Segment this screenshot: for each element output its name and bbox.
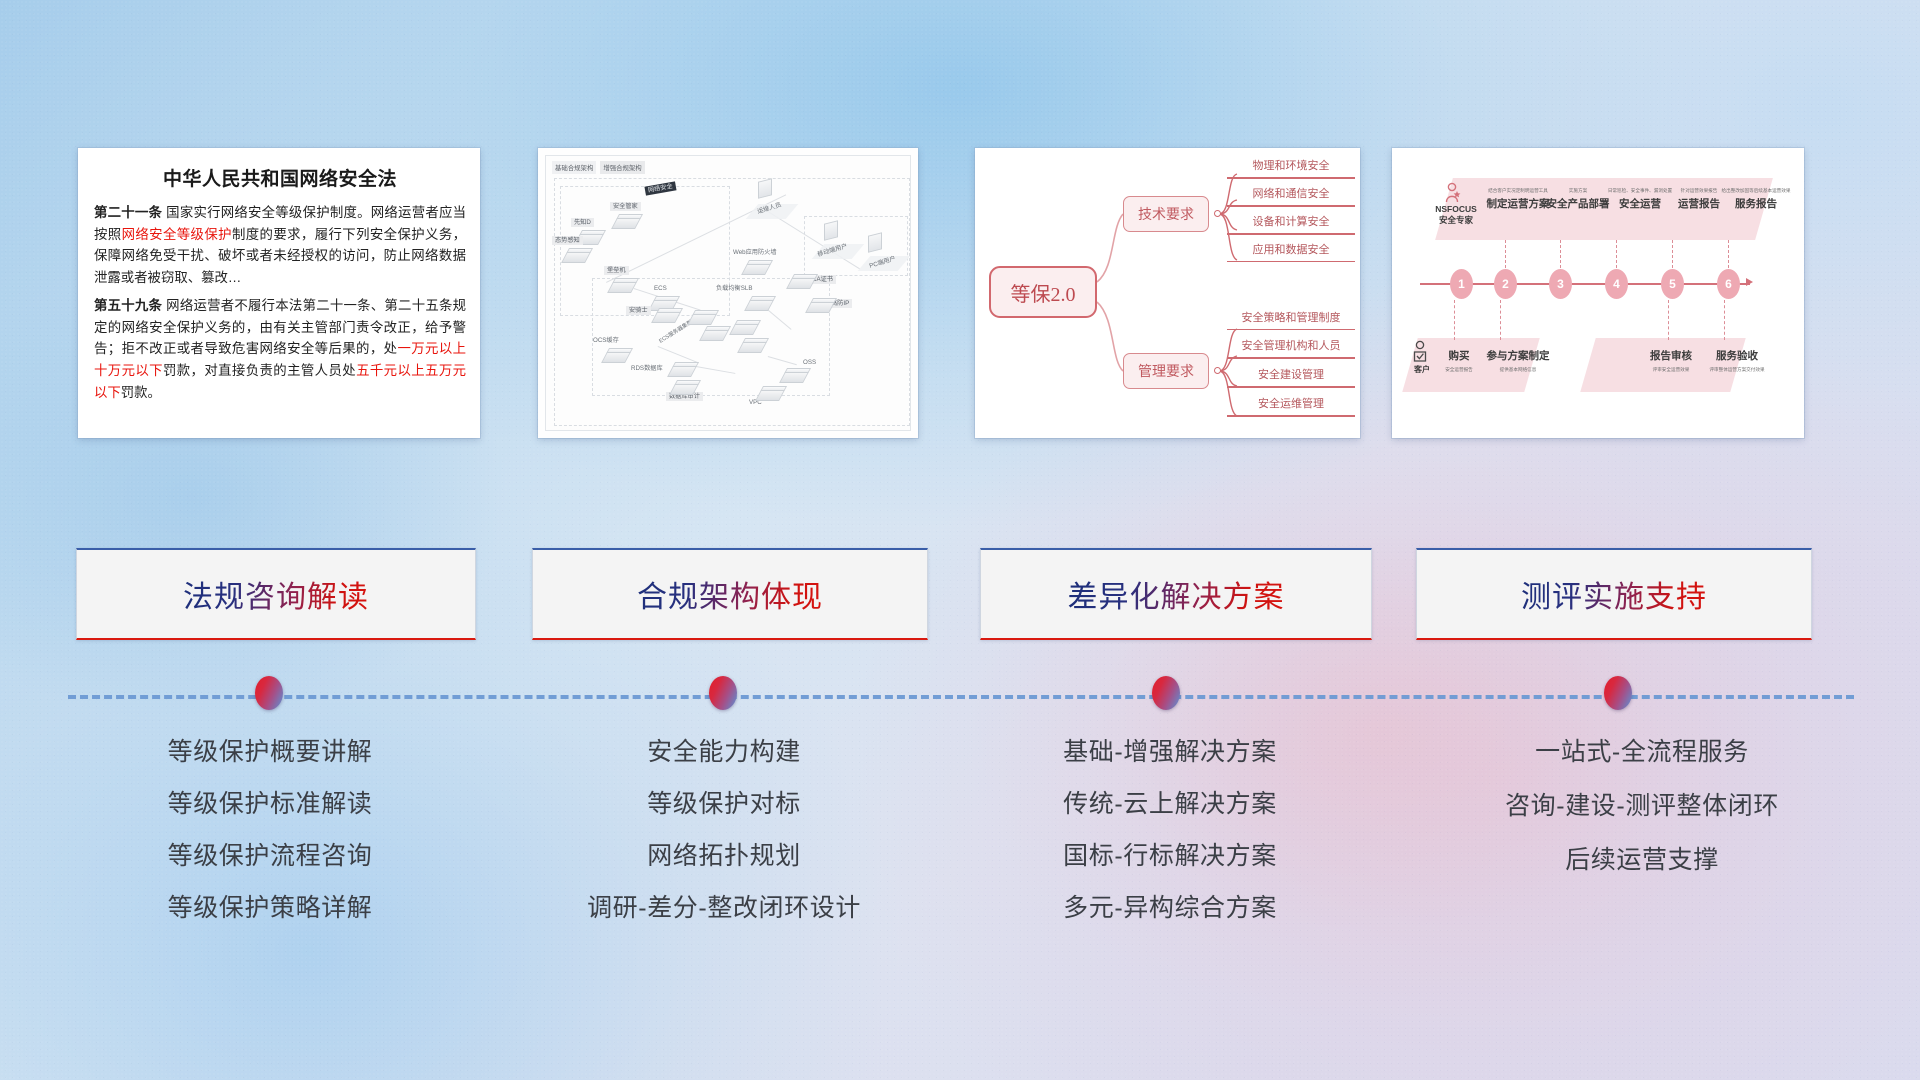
step-caption: 评审安全运营效果	[1640, 367, 1702, 373]
list-item: 安全能力构建	[494, 740, 954, 765]
timeline-node-2[interactable]	[709, 676, 737, 710]
list-item: 等级保护标准解读	[40, 792, 500, 817]
leader-c2	[1500, 300, 1501, 340]
node-label: 堡垒机	[604, 266, 629, 275]
section-title-box-3[interactable]: 差异化解决方案	[980, 548, 1372, 640]
cube-icon	[614, 214, 640, 232]
list-item: 等级保护对标	[494, 792, 954, 817]
expert-step-6: 给出整改加固等后续基本运营效果 服务报告	[1712, 188, 1800, 211]
leader-2	[1505, 240, 1506, 268]
step-caption: 评审整体运营方案交付效果	[1698, 367, 1776, 373]
cube-icon	[670, 362, 696, 380]
step-caption: 给出整改加固等后续基本运营效果	[1712, 188, 1800, 194]
node-label: ECS	[651, 284, 670, 293]
leader-6	[1728, 240, 1729, 268]
step-number-6: 6	[1717, 269, 1740, 299]
section-title-label: 合规架构体现	[637, 572, 823, 616]
mind-map-root: 等保2.0	[989, 266, 1097, 318]
list-item: 基础-增强解决方案	[940, 740, 1400, 765]
step-title: 购买	[1436, 348, 1482, 363]
timeline-node-3[interactable]	[1152, 676, 1180, 710]
list-item: 后续运营支撑	[1392, 848, 1892, 873]
step-title: 参与方案制定	[1480, 348, 1556, 363]
section-title-box-1[interactable]: 法规咨询解读	[76, 548, 476, 640]
cube-icon	[732, 320, 758, 338]
expert-actor-label: NSFOCUS 安全专家	[1426, 204, 1486, 225]
expert-brand: NSFOCUS	[1426, 204, 1486, 215]
section-items-2: 安全能力构建 等级保护对标 网络拓扑规划 调研-差分-整改闭环设计	[494, 740, 954, 948]
step-caption: 提供基本网络信息	[1480, 367, 1556, 373]
step-caption: 安全运营报告	[1436, 367, 1482, 373]
section-title-label: 测评实施支持	[1521, 572, 1707, 616]
law-title: 中华人民共和国网络安全法	[94, 164, 466, 191]
leader-5	[1672, 240, 1673, 268]
law-text-card[interactable]: 中华人民共和国网络安全法 第二十一条 国家实行网络安全等级保护制度。网络运营者应…	[78, 148, 480, 438]
list-item: 咨询-建设-测评整体闭环	[1392, 794, 1892, 819]
architecture-tab-group[interactable]: 基础合规架构 增强合规架构	[552, 161, 645, 174]
step-title: 报告审核	[1640, 348, 1702, 363]
law-run-highlight: 网络安全等级保护	[122, 227, 232, 242]
cube-icon	[789, 274, 815, 292]
mind-map-branch-management: 管理要求	[1123, 353, 1209, 389]
monitor-icon	[868, 234, 885, 256]
cube-icon	[740, 338, 766, 356]
step-number-5: 5	[1661, 269, 1684, 299]
section-title-row: 法规咨询解读 合规架构体现 差异化解决方案 测评实施支持	[0, 548, 1920, 644]
nsfocus-timeline-card[interactable]: NSFOCUS 安全专家 结合客户实况定制明运营工具 制定运营方案 实施方案 安…	[1392, 148, 1804, 438]
cube-icon	[808, 298, 834, 316]
law-text-body: 中华人民共和国网络安全法 第二十一条 国家实行网络安全等级保护制度。网络运营者应…	[78, 148, 480, 438]
cube-icon	[744, 260, 770, 278]
law-run: 罚款，对直接负责的主管人员处	[163, 363, 356, 378]
mind-map-leaf: 设备和计算安全	[1227, 216, 1355, 235]
person-check-icon	[1412, 340, 1430, 364]
step-title: 服务报告	[1712, 196, 1800, 211]
preview-card-row: 中华人民共和国网络安全法 第二十一条 国家实行网络安全等级保护制度。网络运营者应…	[0, 148, 1920, 444]
section-items-1: 等级保护概要讲解 等级保护标准解读 等级保护流程咨询 等级保护策略详解	[40, 740, 500, 948]
section-title-label: 差异化解决方案	[1068, 572, 1285, 616]
list-item: 传统-云上解决方案	[940, 792, 1400, 817]
mind-map-leaf: 安全运维管理	[1227, 398, 1355, 417]
node-label: OCS缓存	[590, 336, 622, 345]
leader-c1	[1454, 300, 1455, 340]
tab-basic-compliance[interactable]: 基础合规架构	[552, 161, 596, 174]
section-items-3: 基础-增强解决方案 传统-云上解决方案 国标-行标解决方案 多元-异构综合方案	[940, 740, 1400, 948]
node-label: 负载均衡SLB	[713, 284, 755, 293]
architecture-frame: 基础合规架构 增强合规架构	[545, 155, 911, 431]
list-item: 国标-行标解决方案	[940, 844, 1400, 869]
timeline-node-4[interactable]	[1604, 676, 1632, 710]
mind-map-branch-dot	[1214, 210, 1221, 217]
cube-icon	[702, 326, 728, 344]
tab-enhanced-compliance[interactable]: 增强合规架构	[600, 161, 644, 174]
architecture-canvas: 基础合规架构 增强合规架构	[538, 148, 918, 438]
zone-outer	[554, 178, 910, 426]
timeline-arrow-icon	[1746, 278, 1753, 286]
step-title: 服务验收	[1698, 348, 1776, 363]
cube-icon	[604, 348, 630, 366]
cube-icon	[564, 248, 590, 266]
leader-c5	[1668, 300, 1669, 340]
section-title-box-2[interactable]: 合规架构体现	[532, 548, 928, 640]
phone-icon	[824, 222, 841, 244]
law-paragraph-21: 第二十一条 国家实行网络安全等级保护制度。网络运营者应当按照网络安全等级保护制度…	[94, 202, 466, 289]
section-title-box-4[interactable]: 测评实施支持	[1416, 548, 1812, 640]
cube-icon	[782, 368, 808, 386]
expert-role: 安全专家	[1426, 215, 1486, 226]
customer-step-review: 报告审核 评审安全运营效果	[1640, 348, 1702, 375]
cube-icon	[654, 308, 680, 326]
cube-icon	[758, 386, 784, 404]
timeline-node-1[interactable]	[255, 676, 283, 710]
mind-map-canvas: 等保2.0 技术要求 物理和环境安全 网络和通信安全 设备和计算安全 应用和数据…	[975, 148, 1360, 438]
mind-map-card[interactable]: 等保2.0 技术要求 物理和环境安全 网络和通信安全 设备和计算安全 应用和数据…	[975, 148, 1360, 438]
node-label: 安全管家	[610, 202, 641, 211]
mind-map-leaf: 物理和环境安全	[1227, 160, 1355, 179]
section-items-4: 一站式-全流程服务 咨询-建设-测评整体闭环 后续运营支撑	[1392, 740, 1892, 902]
cube-icon	[610, 278, 636, 296]
section-title-label: 法规咨询解读	[183, 572, 369, 616]
mind-map-leaf: 安全管理机构和人员	[1227, 340, 1355, 359]
step-number-2: 2	[1494, 269, 1517, 299]
person-star-icon	[1444, 182, 1462, 204]
leader-c6	[1724, 300, 1725, 340]
mind-map-branch-dot	[1214, 367, 1221, 374]
node-label: 先知D	[571, 218, 594, 227]
list-item: 多元-异构综合方案	[940, 896, 1400, 921]
cube-icon	[747, 296, 773, 314]
step-number-1: 1	[1450, 269, 1473, 299]
section-items-row: 等级保护概要讲解 等级保护标准解读 等级保护流程咨询 等级保护策略详解 安全能力…	[0, 740, 1920, 960]
mind-map-leaf: 安全建设管理	[1227, 369, 1355, 388]
nsfocus-canvas: NSFOCUS 安全专家 结合客户实况定制明运营工具 制定运营方案 实施方案 安…	[1392, 148, 1804, 438]
node-label: RDS数据库	[628, 364, 666, 373]
law-article-number-59: 第五十九条	[94, 298, 162, 313]
list-item: 一站式-全流程服务	[1392, 740, 1892, 765]
list-item: 调研-差分-整改闭环设计	[494, 896, 954, 921]
leader-3	[1560, 240, 1561, 268]
list-item: 网络拓扑规划	[494, 844, 954, 869]
node-label: 安骑士	[626, 306, 651, 315]
customer-actor-label: 客户	[1406, 364, 1438, 375]
list-item: 等级保护流程咨询	[40, 844, 500, 869]
mind-map-leaf: 应用和数据安全	[1227, 244, 1355, 262]
monitor-icon	[758, 180, 775, 202]
law-article-number-21: 第二十一条	[94, 205, 162, 220]
mind-map-branch-technical: 技术要求	[1123, 196, 1209, 232]
node-label: OSS	[800, 358, 819, 367]
node-label: 态势感知	[552, 236, 583, 245]
customer-step-participate: 参与方案制定 提供基本网络信息	[1480, 348, 1556, 375]
list-item: 等级保护策略详解	[40, 896, 500, 921]
step-number-4: 4	[1605, 269, 1628, 299]
law-paragraph-59: 第五十九条 网络运营者不履行本法第二十一条、第二十五条规定的网络安全保护义务的，…	[94, 295, 466, 404]
customer-step-purchase: 购买 安全运营报告	[1436, 348, 1482, 375]
cube-icon	[672, 380, 698, 398]
node-label: Web应用防火墙	[730, 248, 780, 257]
slide-stage: 中华人民共和国网络安全法 第二十一条 国家实行网络安全等级保护制度。网络运营者应…	[0, 0, 1920, 1080]
leader-4	[1616, 240, 1617, 268]
customer-step-acceptance: 服务验收 评审整体运营方案交付效果	[1698, 348, 1776, 375]
law-run: 罚款。	[121, 385, 161, 400]
list-item: 等级保护概要讲解	[40, 740, 500, 765]
step-number-3: 3	[1549, 269, 1572, 299]
timeline-dashed-line	[68, 695, 1854, 699]
mind-map-leaf: 网络和通信安全	[1227, 188, 1355, 207]
mind-map-leaf: 安全策略和管理制度	[1227, 312, 1355, 330]
architecture-diagram-card[interactable]: 基础合规架构 增强合规架构	[538, 148, 918, 438]
